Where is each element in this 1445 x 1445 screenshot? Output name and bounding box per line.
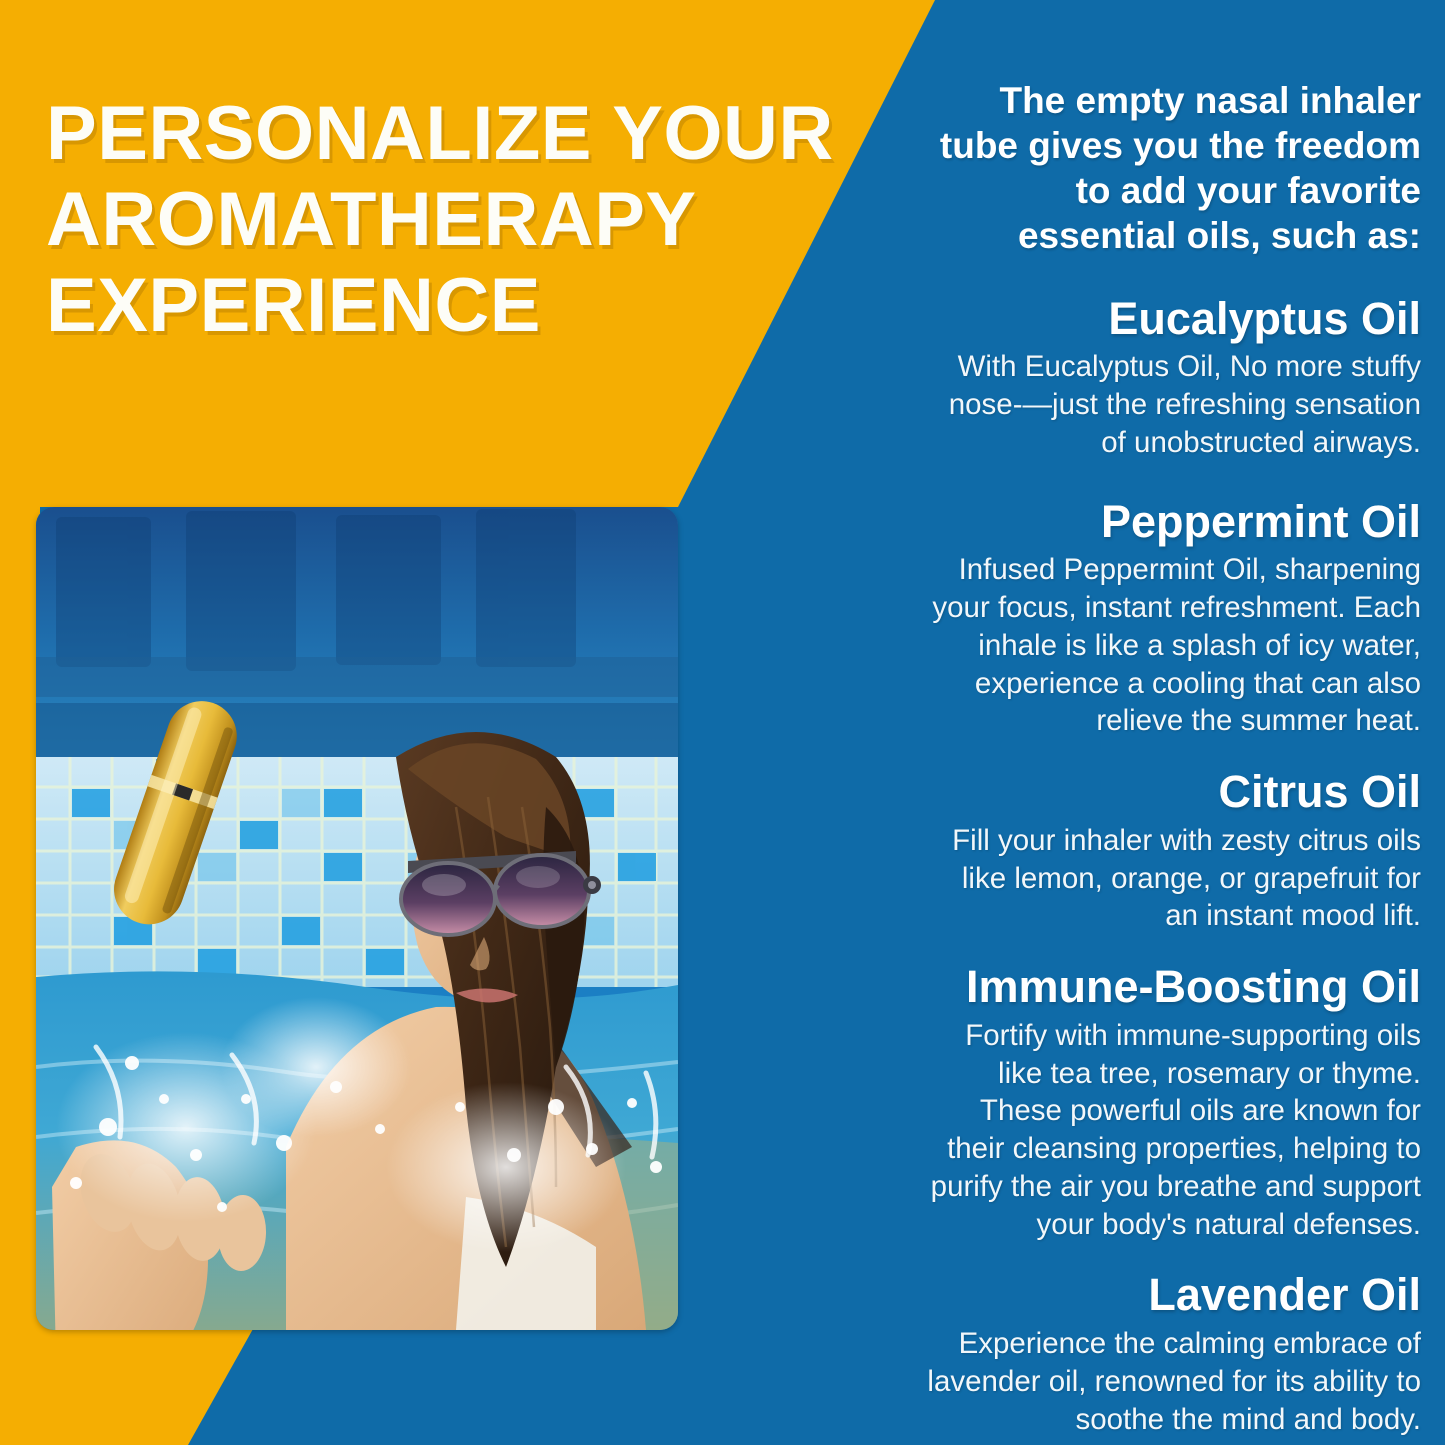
oil-description-peppermint: Infused Peppermint Oil, sharpening your … xyxy=(921,551,1421,740)
photo-illustration xyxy=(36,507,678,1330)
oil-title-peppermint: Peppermint Oil xyxy=(921,496,1421,548)
page-title: PERSONALIZE YOUR AROMATHERAPY EXPERIENCE xyxy=(46,91,876,349)
oil-title-eucalyptus: Eucalyptus Oil xyxy=(921,293,1421,345)
oil-description-immune-boosting: Fortify with immune-supporting oils like… xyxy=(921,1017,1421,1244)
oils-content-column: The empty nasal inhaler tube gives you t… xyxy=(921,78,1421,1445)
oil-block-peppermint: Peppermint Oil Infused Peppermint Oil, s… xyxy=(921,496,1421,741)
yellow-bottom-wedge xyxy=(0,1320,270,1445)
oil-title-immune-boosting: Immune-Boosting Oil xyxy=(921,961,1421,1013)
oil-block-immune-boosting: Immune-Boosting Oil Fortify with immune-… xyxy=(921,961,1421,1243)
product-infographic: PERSONALIZE YOUR AROMATHERAPY EXPERIENCE xyxy=(0,0,1445,1445)
oil-description-eucalyptus: With Eucalyptus Oil, No more stuffy nose… xyxy=(921,348,1421,461)
oil-description-lavender: Experience the calming embrace of lavend… xyxy=(921,1325,1421,1438)
oil-block-lavender: Lavender Oil Experience the calming embr… xyxy=(921,1269,1421,1438)
oil-block-eucalyptus: Eucalyptus Oil With Eucalyptus Oil, No m… xyxy=(921,293,1421,462)
oil-description-citrus: Fill your inhaler with zesty citrus oils… xyxy=(921,822,1421,935)
intro-text: The empty nasal inhaler tube gives you t… xyxy=(921,78,1421,259)
product-lifestyle-photo xyxy=(36,507,678,1330)
oil-block-citrus: Citrus Oil Fill your inhaler with zesty … xyxy=(921,766,1421,935)
oil-title-citrus: Citrus Oil xyxy=(921,766,1421,818)
oil-title-lavender: Lavender Oil xyxy=(921,1269,1421,1321)
yellow-left-strip xyxy=(0,400,40,1340)
